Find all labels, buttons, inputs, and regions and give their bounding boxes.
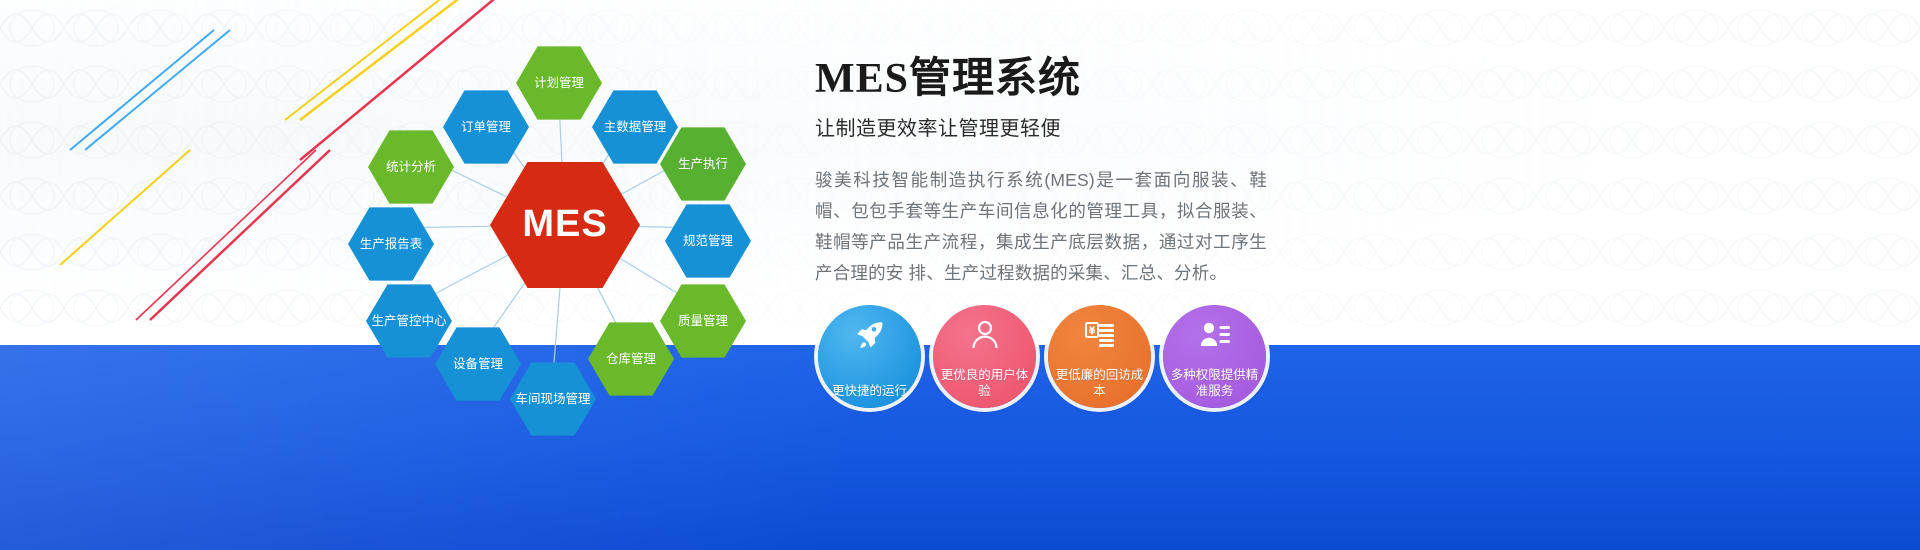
diagram-node-label: 仓库管理 [606, 352, 656, 366]
feature-badge-speed[interactable]: 更快捷的运行 [818, 305, 921, 408]
page-subtitle: 让制造更效率让管理更轻便 [815, 112, 1435, 141]
feature-badge-label: 多种权限提供精准服务 [1169, 367, 1261, 399]
hero-description: 骏美科技智能制造执行系统(MES)是一套面向服装、鞋帽、包包手套等生产车间信息化… [815, 165, 1267, 289]
diagram-node-label: 质量管理 [678, 314, 728, 328]
feature-badge-cost[interactable]: 更低廉的回访成本 [1048, 305, 1151, 408]
diagram-node-label: 车间现场管理 [515, 392, 590, 406]
diagram-node-label: 计划管理 [534, 76, 584, 90]
diagram-node-label: 主数据管理 [604, 120, 667, 134]
hero-banner: MES 计划管理 订单管理 主数据管理 统计分析 生产执行 生产报告表 规范管理… [0, 0, 1920, 550]
diagram-node-label: 订单管理 [461, 120, 511, 134]
user-icon [968, 318, 1002, 352]
feature-badge-experience[interactable]: 更优良的用户体验 [933, 305, 1036, 408]
diagram-center-label: MES [522, 203, 607, 247]
diagram-node-label: 生产管控中心 [371, 314, 446, 328]
feature-badge-label: 更优良的用户体验 [939, 367, 1031, 399]
diagram-node-label: 规范管理 [683, 234, 733, 248]
user-list-icon [1198, 318, 1232, 352]
coins-icon [1083, 318, 1117, 352]
diagram-node-label: 统计分析 [386, 160, 436, 174]
diagram-node-label: 生产报告表 [360, 237, 423, 251]
rocket-icon [853, 318, 887, 352]
diagram-node-label: 设备管理 [453, 357, 503, 371]
feature-badge-label: 更低廉的回访成本 [1054, 367, 1146, 399]
page-title: MES管理系统 [815, 56, 1435, 102]
feature-badge-row: 更快捷的运行 更优良的用户体验 [818, 305, 1266, 408]
feature-badge-label: 更快捷的运行 [824, 383, 916, 399]
diagram-node-label: 生产执行 [678, 157, 728, 171]
feature-badge-permissions[interactable]: 多种权限提供精准服务 [1163, 305, 1266, 408]
hero-copy: MES管理系统 让制造更效率让管理更轻便 骏美科技智能制造执行系统(MES)是一… [815, 56, 1435, 289]
mes-hexagon-diagram: MES 计划管理 订单管理 主数据管理 统计分析 生产执行 生产报告表 规范管理… [330, 20, 800, 440]
